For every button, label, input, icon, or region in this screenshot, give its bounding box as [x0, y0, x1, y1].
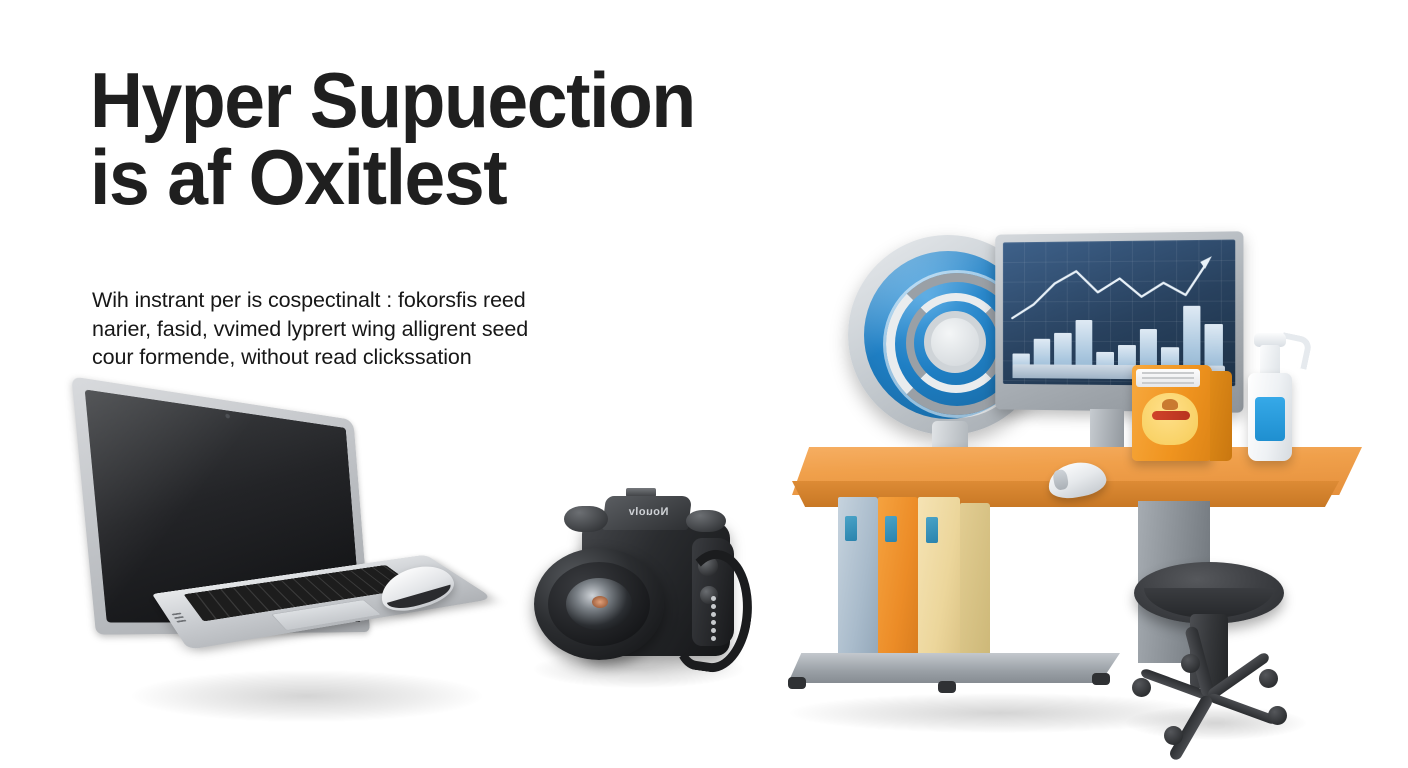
stool-caster — [1259, 669, 1278, 688]
desk-foot-left — [788, 677, 806, 689]
camera-lens — [534, 548, 664, 660]
desk-foot-right — [1092, 673, 1110, 685]
camera-mode-dial — [564, 506, 608, 532]
laptop-shadow — [132, 670, 482, 722]
stool-caster — [1181, 654, 1200, 673]
stool-leg — [1207, 692, 1278, 725]
target-ring-center — [924, 311, 986, 373]
package-top-label — [1136, 369, 1200, 387]
stool-caster — [1132, 678, 1151, 697]
camera-lens-glass — [566, 578, 632, 630]
package-artwork — [1142, 393, 1198, 445]
orange-package — [1132, 365, 1212, 461]
camera-shutter-dial — [686, 510, 726, 532]
camera-lens-barrel — [548, 562, 650, 646]
stool-illustration — [1118, 556, 1318, 746]
binder-2-tag — [885, 516, 897, 542]
camera-brand-text: Nouolv — [628, 506, 668, 518]
page-title: Hyper Supuection is af Oxitlest — [90, 62, 842, 216]
pump-bottle — [1248, 373, 1292, 461]
desk-base-plate — [788, 653, 1120, 683]
binder-3 — [918, 497, 960, 663]
laptop-webcam-icon — [225, 414, 230, 419]
camera-strap — [668, 545, 760, 676]
binder-1-tag — [845, 516, 857, 541]
canvas: Hyper Supuection is af Oxitlest Wih inst… — [0, 0, 1408, 768]
page-subcopy: Wih instrant per is cospectinalt : fokor… — [92, 286, 752, 372]
binder-3-tag — [926, 517, 939, 544]
laptop-illustration — [112, 418, 492, 728]
binder-2 — [878, 497, 918, 659]
binder-3-side — [960, 503, 990, 663]
package-side — [1210, 371, 1232, 461]
camera-illustration: Nouolv — [520, 500, 765, 690]
stool-caster — [1268, 706, 1287, 725]
bottle-label — [1255, 397, 1285, 441]
binder-1 — [838, 497, 878, 655]
camera-body: Nouolv — [582, 522, 730, 656]
desk-foot-mid — [938, 681, 956, 693]
stool-leg-base — [1126, 676, 1296, 728]
camera-prism: Nouolv — [602, 496, 692, 530]
